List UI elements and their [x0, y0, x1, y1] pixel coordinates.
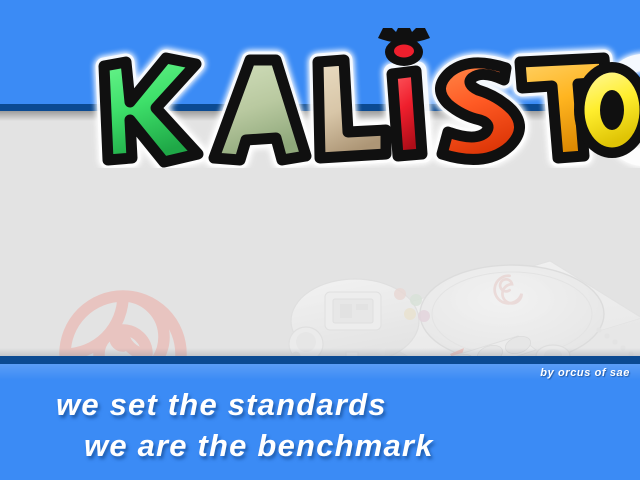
logo-letter-K [104, 58, 198, 162]
logo-letter-S [440, 63, 519, 160]
logo-letter-i [392, 71, 422, 156]
credit-line: by orcus of sae [540, 367, 630, 379]
dreamcast-swirl-icon [48, 279, 198, 356]
bottom-divider-shadow [0, 348, 640, 356]
dreamcast-console-art [250, 226, 640, 356]
bottom-divider-rule [0, 356, 640, 364]
splash-screen: Dreamcast [0, 0, 640, 480]
tagline-line-1: we set the standards [0, 384, 640, 425]
tagline-line-2: we are the benchmark [0, 425, 640, 466]
kalisto-logo [0, 28, 640, 168]
crown-icon [378, 28, 430, 43]
tagline: we set the standards we are the benchmar… [0, 384, 640, 466]
